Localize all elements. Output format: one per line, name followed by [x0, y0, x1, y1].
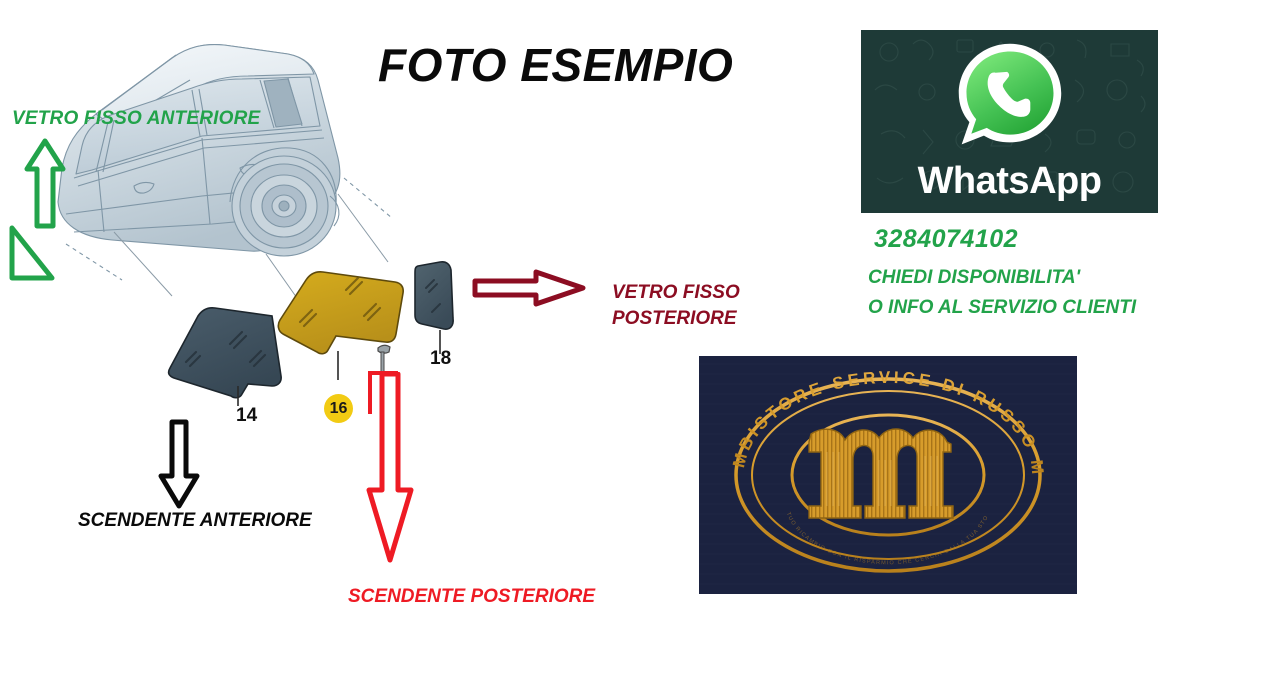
contact-line-2: O INFO AL SERVIZIO CLIENTI	[868, 297, 1136, 319]
whatsapp-phone-bubble-icon	[952, 38, 1068, 154]
shop-logo-monogram	[809, 429, 953, 518]
contact-phone-number[interactable]: 3284074102	[874, 225, 1018, 254]
arrow-right-icon	[472, 268, 586, 308]
page-title: FOTO ESEMPIO	[378, 38, 733, 92]
part-18-shape	[415, 262, 453, 329]
part-14-shape	[169, 308, 282, 398]
arrow-down-icon	[157, 418, 201, 510]
whatsapp-wordmark: WhatsApp	[861, 160, 1158, 203]
arrow-down-long-icon	[366, 372, 414, 564]
part-number-14: 14	[236, 405, 257, 427]
screenshot-canvas: 14 16 17 18 FOTO ESEMPIO VETRO FISSO ANT…	[0, 0, 1264, 678]
triangle-marker-icon	[8, 224, 56, 282]
part-number-16-text: 16	[330, 400, 348, 418]
label-scendente-anteriore: SCENDENTE ANTERIORE	[78, 510, 312, 532]
part-number-18: 18	[430, 348, 451, 370]
label-vetro-fisso-posteriore: VETRO FISSO POSTERIORE	[612, 280, 740, 332]
label-line-1: VETRO FISSO	[612, 280, 740, 306]
label-vetro-fisso-anteriore: VETRO FISSO ANTERIORE	[12, 108, 260, 130]
part-16-shape	[278, 272, 403, 354]
shop-logo-graphic: MRICAMBISTORE SERVICE DI RUSSO MARCO IL …	[699, 356, 1077, 594]
contact-line-1: CHIEDI DISPONIBILITA'	[868, 267, 1080, 289]
shop-logo-banner: MRICAMBISTORE SERVICE DI RUSSO MARCO IL …	[699, 356, 1077, 594]
part-17-shape	[378, 345, 390, 374]
label-scendente-posteriore: SCENDENTE POSTERIORE	[348, 586, 595, 608]
exploded-glass-parts	[150, 250, 480, 420]
whatsapp-banner[interactable]: WhatsApp	[861, 30, 1158, 213]
part-number-badge-16: 16	[324, 394, 353, 423]
arrow-up-icon	[24, 138, 66, 230]
label-line-2: POSTERIORE	[612, 306, 740, 332]
